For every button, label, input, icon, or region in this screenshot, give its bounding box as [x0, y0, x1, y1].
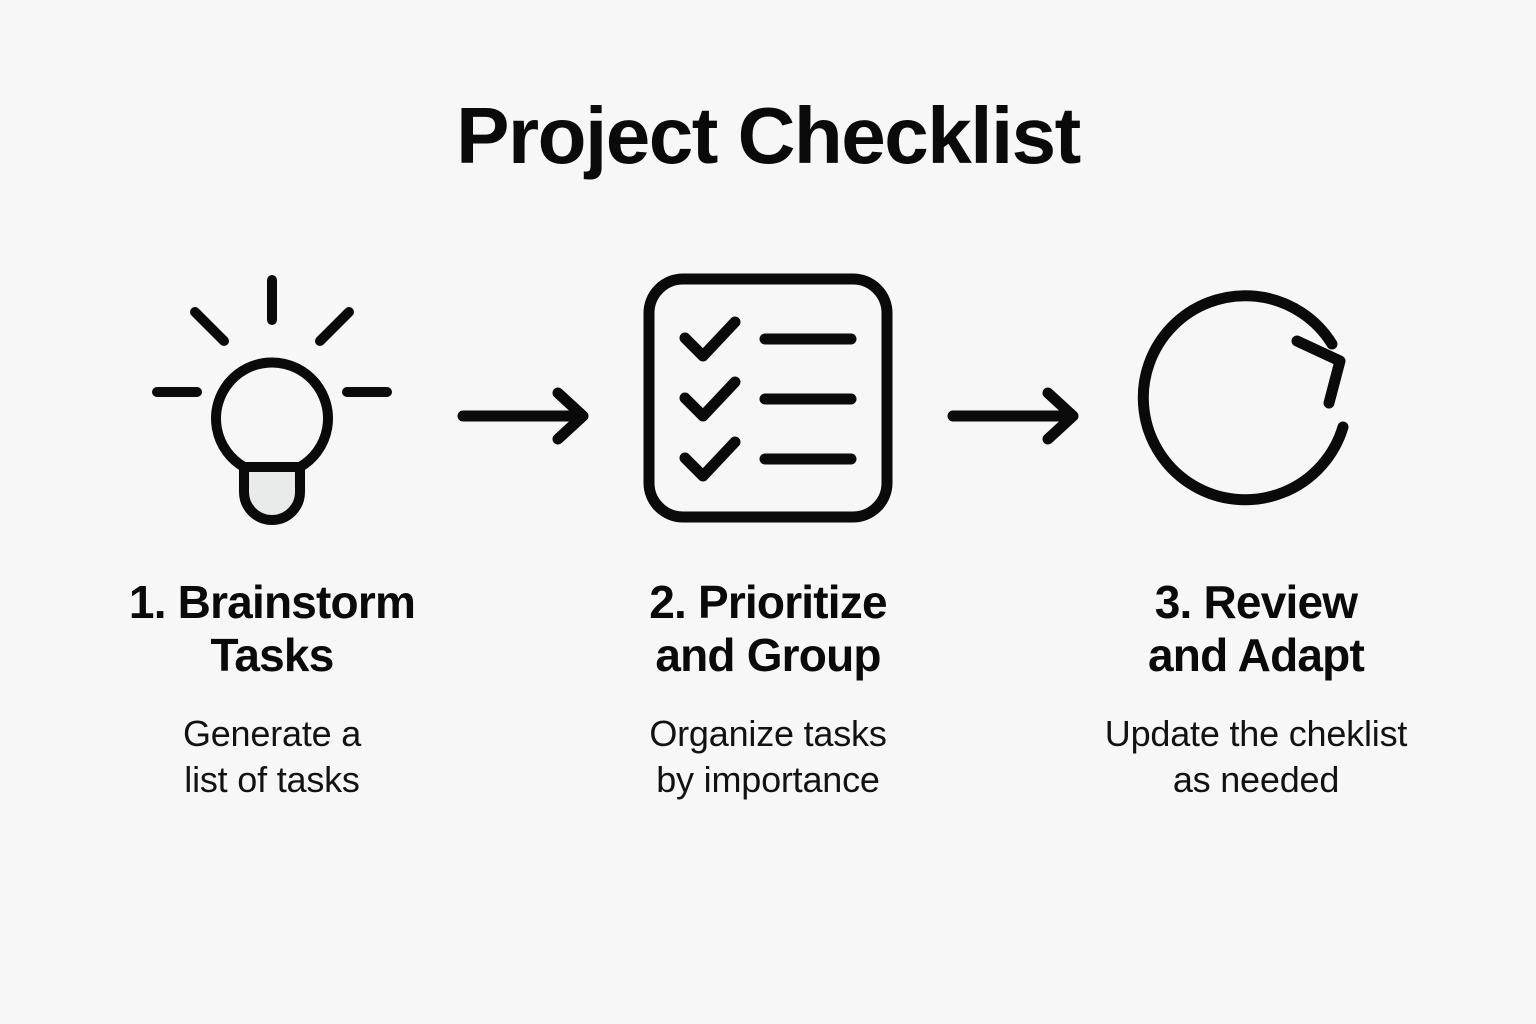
step-3-icon-wrapper: [1066, 262, 1446, 534]
step-2-icon-wrapper: [578, 262, 958, 534]
step-3-description: Update the cheklist as needed: [1066, 711, 1446, 803]
step-1-description: Generate a list of tasks: [82, 711, 462, 803]
step-2-heading: 2. Prioritize and Group: [578, 576, 958, 683]
step-1-icon-wrapper: [82, 262, 462, 534]
refresh-circle-icon: [1131, 273, 1381, 523]
process-step-2: 2. Prioritize and Group Organize tasks b…: [578, 262, 958, 803]
step-2-description: Organize tasks by importance: [578, 711, 958, 803]
step-1-heading: 1. Brainstorm Tasks: [82, 576, 462, 683]
process-step-3: 3. Review and Adapt Update the cheklist …: [1066, 262, 1446, 803]
checklist-icon: [643, 273, 893, 523]
diagram-canvas: Project Checklist 1. Brainstorm Task: [0, 0, 1536, 1024]
page-title: Project Checklist: [0, 96, 1536, 176]
step-3-heading: 3. Review and Adapt: [1066, 576, 1446, 683]
process-step-1: 1. Brainstorm Tasks Generate a list of t…: [82, 262, 462, 803]
lightbulb-icon: [132, 262, 412, 534]
